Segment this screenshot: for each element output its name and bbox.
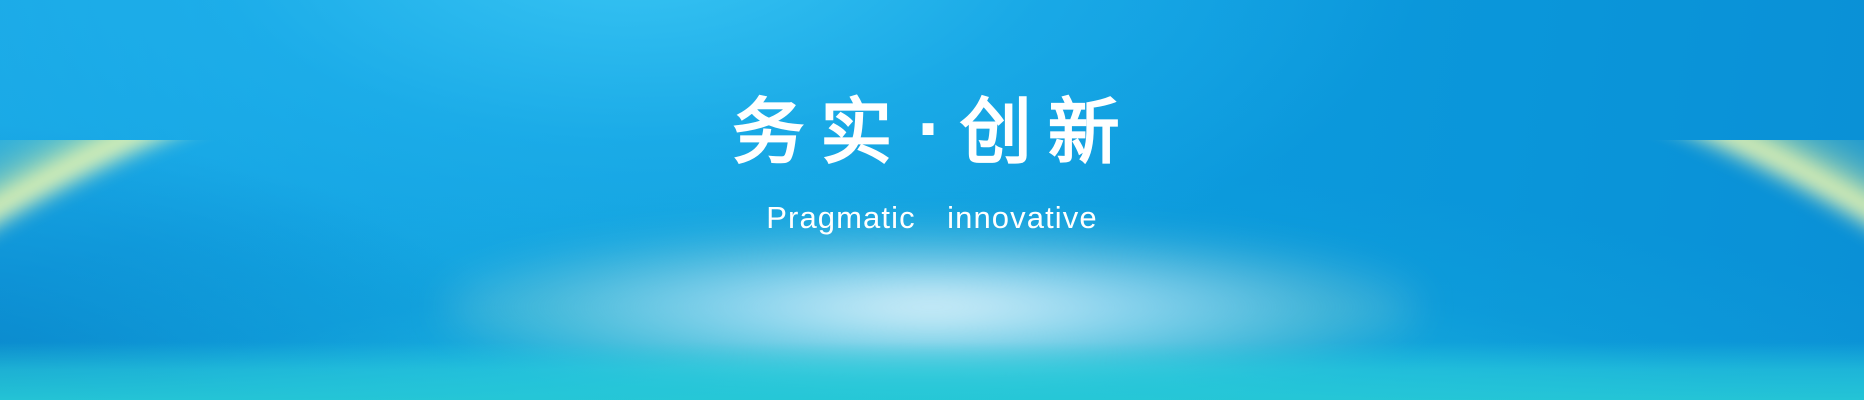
banner-subtitle: Pragmatic innovative [766, 202, 1097, 233]
subtitle-word-right: innovative [947, 200, 1098, 235]
headline-word-right: 创新 [956, 96, 1136, 168]
subtitle-word-left: Pragmatic [766, 200, 915, 235]
headline-separator-dot: · [908, 99, 956, 161]
banner-content: 务实 · 创新 Pragmatic innovative [0, 0, 1864, 400]
headline-word-left: 务实 [728, 96, 908, 168]
banner-headline: 务实 · 创新 [728, 96, 1136, 168]
hero-banner: 务实 · 创新 Pragmatic innovative [0, 0, 1864, 400]
